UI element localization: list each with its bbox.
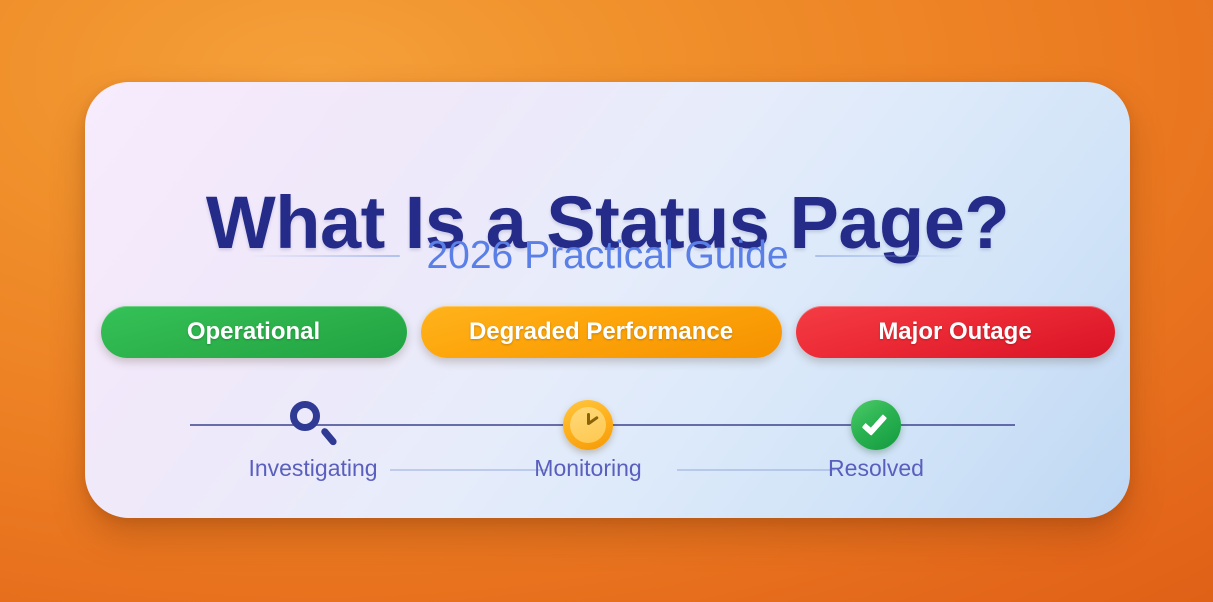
timeline-label-rule-1 (390, 469, 548, 471)
timeline-stage-label-investigating: Investigating (248, 454, 377, 482)
page-subtitle: 2026 Practical Guide (426, 233, 788, 279)
timeline-stage-resolved[interactable]: Resolved (816, 392, 936, 492)
status-pill-group: Operational Degraded Performance Major O… (85, 305, 1130, 359)
timeline-stage-monitoring[interactable]: Monitoring (528, 392, 648, 492)
magnifier-icon (280, 392, 346, 458)
timeline-stage-label-resolved: Resolved (828, 454, 924, 482)
subtitle-rule-right (815, 255, 963, 257)
status-page-card: What Is a Status Page? 2026 Practical Gu… (85, 82, 1130, 518)
clock-icon (555, 392, 621, 458)
timeline-stage-label-monitoring: Monitoring (534, 454, 641, 482)
check-circle-icon (843, 392, 909, 458)
status-badge-degraded-performance[interactable]: Degraded Performance (421, 306, 782, 358)
status-badge-major-outage[interactable]: Major Outage (796, 306, 1115, 358)
timeline-label-rule-2 (677, 469, 835, 471)
timeline-stage-investigating[interactable]: Investigating (253, 392, 373, 492)
subtitle-row: 2026 Practical Guide (85, 230, 1130, 282)
poster-canvas: What Is a Status Page? 2026 Practical Gu… (0, 0, 1213, 602)
incident-timeline: Investigating Monitoring (190, 392, 1015, 492)
subtitle-rule-left (252, 255, 400, 257)
status-badge-operational[interactable]: Operational (101, 306, 407, 358)
